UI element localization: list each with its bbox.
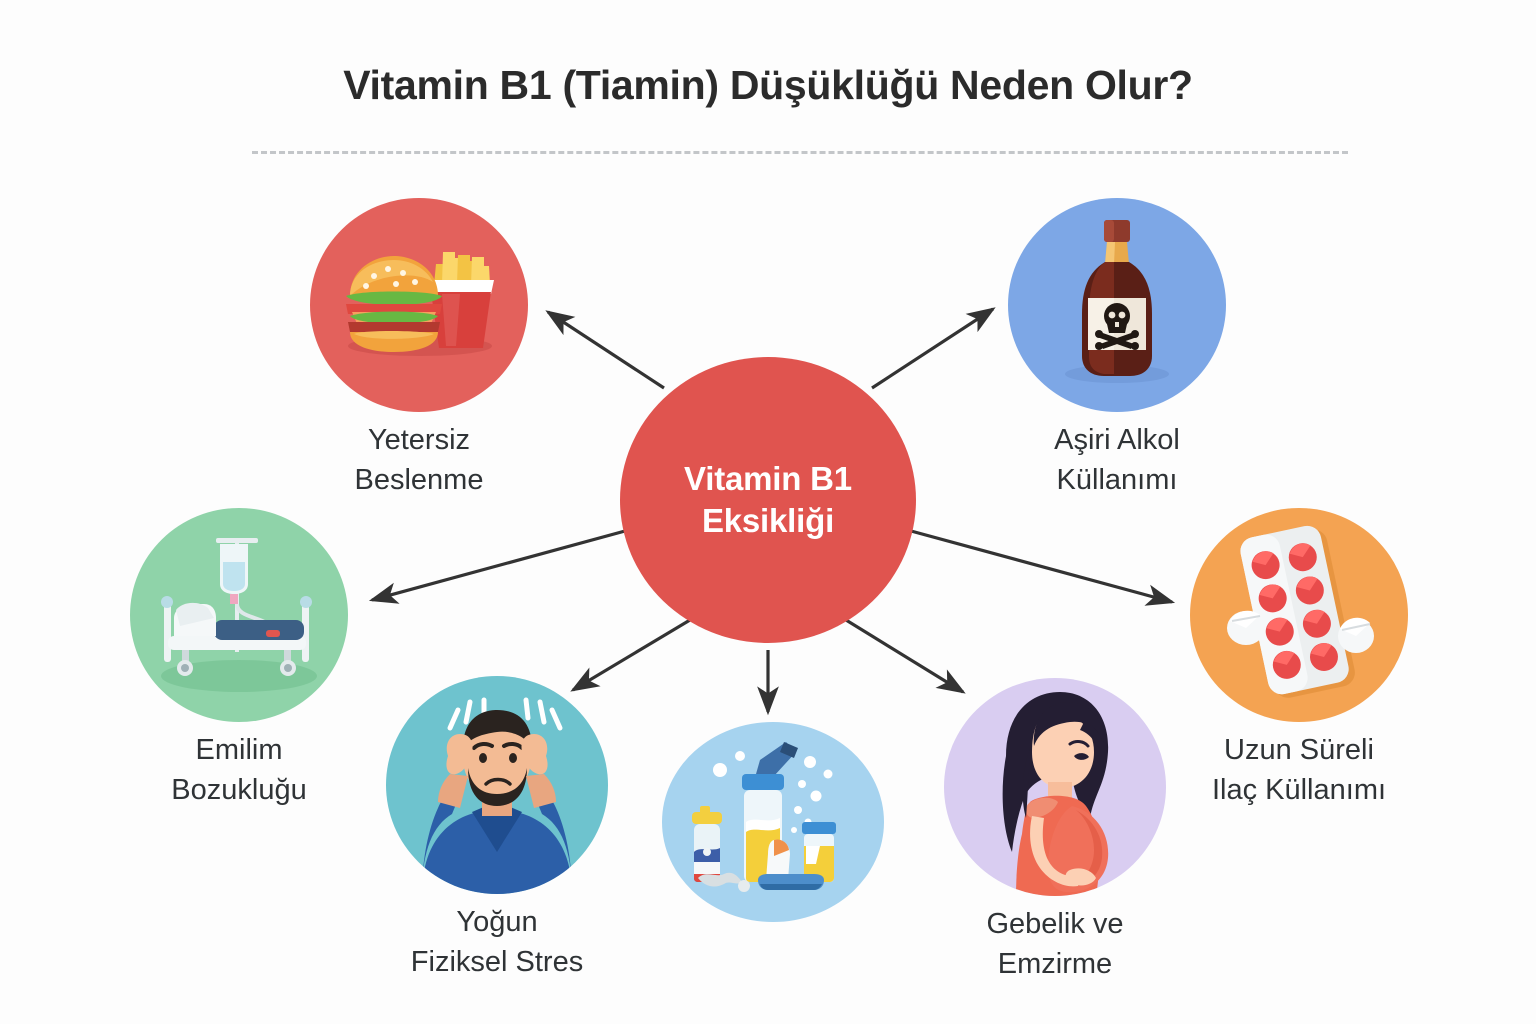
node-yogun-fiziksel-stres[interactable]: Yoğun Fiziksel Stres (386, 676, 608, 894)
supplement-bottles-icon (662, 722, 884, 922)
node-label-emilim-bozuklugu: Emilim Bozukluğu (171, 730, 306, 810)
burger-fries-icon (310, 198, 528, 412)
node-asiri-alkol-kullanimi[interactable]: Aşiri Alkol Küllanımı (1008, 198, 1226, 412)
arrow-to-nutrition (548, 312, 664, 388)
node-label-line-1: Aşiri Alkol (1054, 420, 1180, 460)
node-label-uzun-sureli-ilac-kullanimi: Uzun Süreli Ilaç Küllanımı (1212, 730, 1386, 810)
node-label-line-2: Emzirme (986, 944, 1123, 984)
node-label-line-2: Küllanımı (1054, 460, 1180, 500)
node-label-line-2: Ilaç Küllanımı (1212, 770, 1386, 810)
node-label-line-2: Beslenme (355, 460, 484, 500)
node-label-line-2: Bozukluğu (171, 770, 306, 810)
node-emilim-bozuklugu[interactable]: Emilim Bozukluğu (130, 508, 348, 722)
node-uzun-sureli-ilac-kullanimi[interactable]: Uzun Süreli Ilaç Küllanımı (1190, 508, 1408, 722)
title-divider (252, 151, 1348, 154)
page-title-text: Vitamin B1 (Tiamin) Düşüklüğü Neden Olur… (0, 62, 1536, 109)
node-label-line-1: Yetersiz (355, 420, 484, 460)
node-label-line-1: Yoğun (411, 902, 583, 942)
node-label-gebelik-ve-emzirme: Gebelik ve Emzirme (986, 904, 1123, 984)
node-label-asiri-alkol-kullanimi: Aşiri Alkol Küllanımı (1054, 420, 1180, 500)
center-node-line-2: Eksikliği (702, 500, 834, 542)
hospital-bed-iv-icon (130, 508, 348, 722)
node-label-line-1: Emilim (171, 730, 306, 770)
arrow-to-medication (900, 528, 1172, 602)
node-label-yetersiz-beslenme: Yetersiz Beslenme (355, 420, 484, 500)
pregnant-woman-icon (944, 678, 1166, 896)
arrow-to-alcohol (872, 309, 993, 388)
pill-blister-icon (1190, 508, 1408, 722)
node-supplement-bottles[interactable] (662, 722, 884, 922)
node-label-line-2: Fiziksel Stres (411, 942, 583, 982)
node-gebelik-ve-emzirme[interactable]: Gebelik ve Emzirme (944, 678, 1166, 896)
node-yetersiz-beslenme[interactable]: Yetersiz Beslenme (310, 198, 528, 412)
poison-bottle-icon (1008, 198, 1226, 412)
stressed-man-icon (386, 676, 608, 894)
node-label-line-1: Uzun Süreli (1212, 730, 1386, 770)
node-label-yogun-fiziksel-stres: Yoğun Fiziksel Stres (411, 902, 583, 982)
arrow-to-absorption (372, 528, 636, 600)
center-node-line-1: Vitamin B1 (684, 458, 852, 500)
center-node-vitamin-b1-deficiency[interactable]: Vitamin B1 Eksikliği (620, 357, 916, 643)
node-label-line-1: Gebelik ve (986, 904, 1123, 944)
